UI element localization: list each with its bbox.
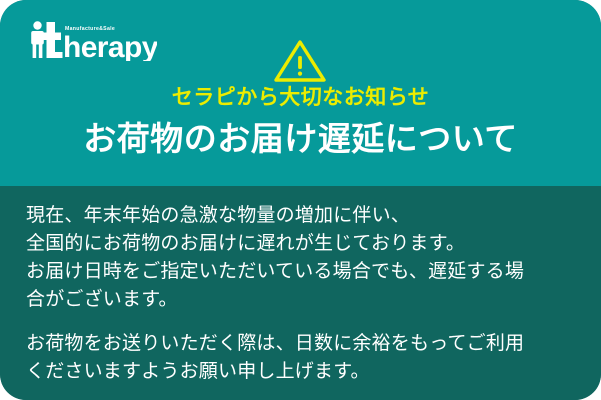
therapy-logo: Manufacture&Sale herapy xyxy=(27,19,157,61)
logo-artwork: Manufacture&Sale herapy xyxy=(27,19,157,61)
notice-line: お荷物をお送りいただく際は、日数に余裕をもってご利用 xyxy=(26,330,577,358)
notice-header: Manufacture&Sale herapy セラピから大切なお知らせ お荷物… xyxy=(0,0,601,186)
notice-line: 全国的にお荷物のお届けに遅れが生じております。 xyxy=(26,230,577,258)
delivery-delay-notice-card: Manufacture&Sale herapy セラピから大切なお知らせ お荷物… xyxy=(0,0,601,400)
warning-triangle-icon xyxy=(272,38,328,84)
page-title: お荷物のお届け遅延について xyxy=(0,119,601,159)
notice-paragraph: 現在、年末年始の急激な物量の増加に伴い、 全国的にお荷物のお届けに遅れが生じてお… xyxy=(26,202,577,314)
notice-line: お届け日時をご指定いただいている場合でも、遅延する場 xyxy=(26,258,577,286)
notice-line: くださいますようお願い申し上げます。 xyxy=(26,358,577,386)
notice-line: 合がございます。 xyxy=(26,286,577,314)
notice-line: 現在、年末年始の急激な物量の増加に伴い、 xyxy=(26,202,577,230)
notice-paragraph: お荷物をお送りいただく際は、日数に余裕をもってご利用 くださいますようお願い申し… xyxy=(26,330,577,386)
logo-wordmark: herapy xyxy=(63,31,157,61)
notice-eyebrow: セラピから大切なお知らせ xyxy=(0,86,601,109)
notice-body: 現在、年末年始の急激な物量の増加に伴い、 全国的にお荷物のお届けに遅れが生じてお… xyxy=(0,186,601,400)
